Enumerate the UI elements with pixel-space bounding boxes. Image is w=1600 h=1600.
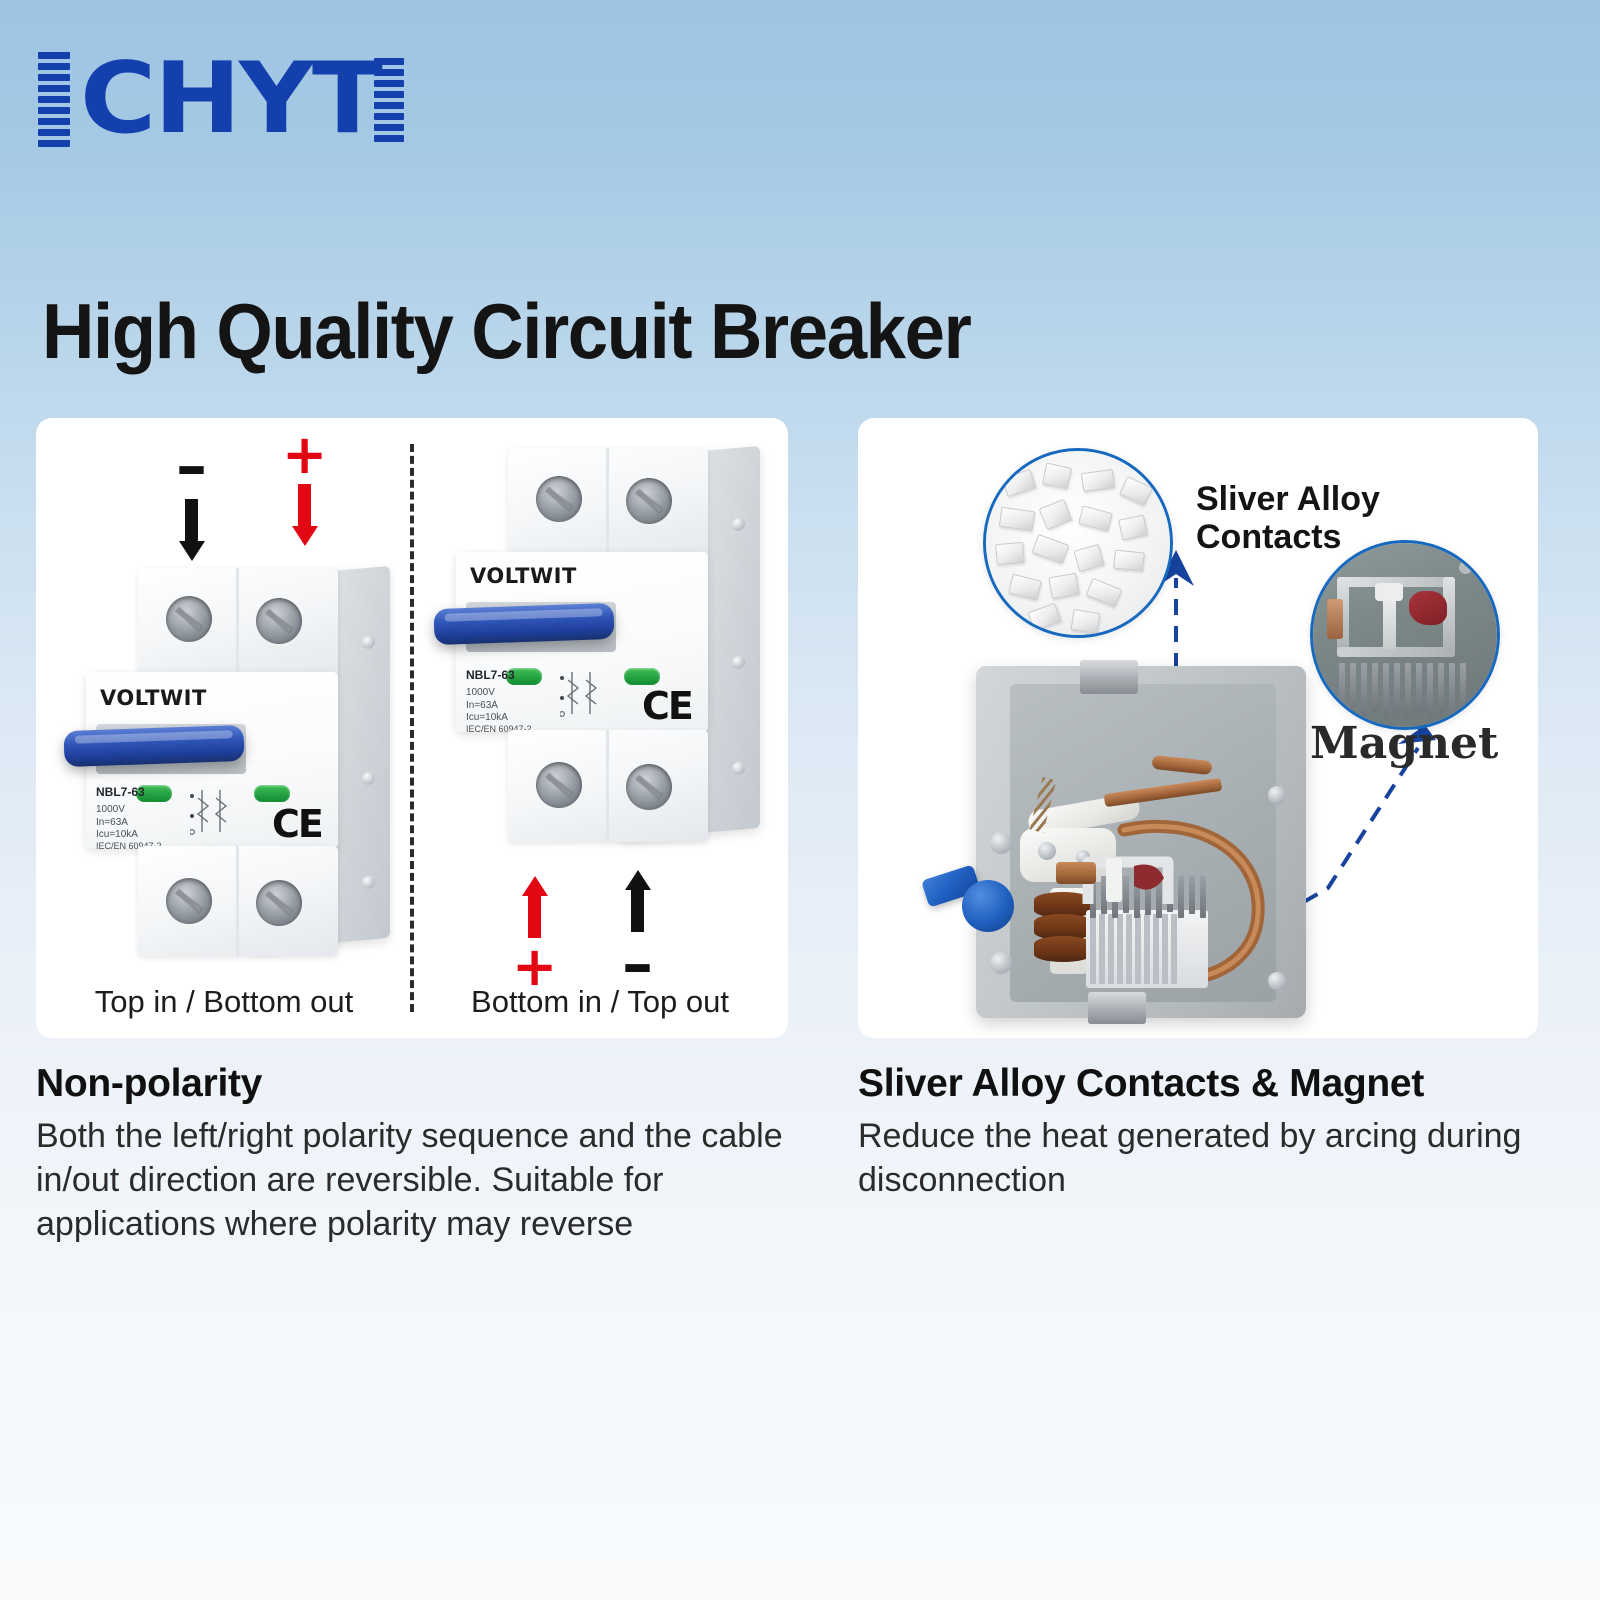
breaker-illustration-top-in: VOLTWIT NBL7-63 1000V In=63A Icu=10kA IE… bbox=[64, 568, 394, 958]
magnet-callout bbox=[1310, 540, 1500, 730]
logo-bars-left bbox=[38, 52, 70, 147]
polarity-mark-positive-bottom: + bbox=[512, 876, 557, 986]
terminal-block-top bbox=[138, 568, 338, 680]
toggle-lever[interactable] bbox=[433, 603, 614, 645]
top-terminal-bolt bbox=[1080, 660, 1138, 694]
logo-wordmark: CHYT bbox=[80, 57, 381, 141]
rating-voltage: 1000V bbox=[96, 803, 125, 817]
feature-heading: Non-polarity bbox=[36, 1062, 816, 1106]
minus-sign: – bbox=[622, 942, 653, 985]
shell-screw bbox=[990, 952, 1012, 974]
non-polarity-card: – + VOLTWIT bbox=[36, 418, 788, 1038]
status-led bbox=[254, 785, 290, 802]
status-led bbox=[624, 668, 660, 685]
contacts-photo bbox=[986, 451, 1170, 635]
minus-sign: – bbox=[176, 444, 207, 487]
ce-mark: CE bbox=[272, 802, 322, 846]
terminal-screw-hole bbox=[166, 878, 212, 924]
panel-a-caption: Top in / Bottom out bbox=[36, 984, 412, 1020]
plus-sign: + bbox=[282, 436, 327, 474]
panel-divider bbox=[410, 444, 414, 1012]
plus-sign: + bbox=[512, 948, 557, 986]
toggle-lever[interactable] bbox=[63, 725, 244, 767]
terminal-screw-hole bbox=[626, 764, 672, 810]
polarity-mark-negative-top: – bbox=[176, 444, 207, 561]
terminal-block-bottom bbox=[138, 846, 338, 956]
breaker-illustration-bottom-in: VOLTWIT NBL7-63 1000V In=63A Icu=10kA IE… bbox=[434, 448, 764, 848]
rating-voltage: 1000V bbox=[466, 686, 495, 700]
terminal-block-top bbox=[508, 448, 708, 560]
terminal-screw-hole bbox=[166, 596, 212, 642]
up-arrow-red bbox=[522, 876, 548, 938]
bottom-terminal-bolt bbox=[1088, 992, 1146, 1024]
product-model-label: NBL7-63 bbox=[466, 667, 515, 683]
terminal-screw-hole bbox=[536, 762, 582, 808]
feature-heading: Sliver Alloy Contacts & Magnet bbox=[858, 1062, 1558, 1106]
feature-non-polarity: Non-polarity Both the left/right polarit… bbox=[36, 1062, 816, 1247]
product-brand-label: VOLTWIT bbox=[470, 564, 577, 588]
terminal-screw-hole bbox=[256, 880, 302, 926]
polarity-mark-negative-bottom: – bbox=[622, 870, 653, 985]
feature-body: Both the left/right polarity sequence an… bbox=[36, 1114, 816, 1247]
breaker-cutaway-illustration bbox=[976, 666, 1306, 1018]
down-arrow-red bbox=[292, 484, 318, 546]
ce-mark: CE bbox=[642, 684, 692, 728]
magnet-label: Magnet bbox=[1310, 718, 1498, 769]
product-model-label: NBL7-63 bbox=[96, 784, 145, 800]
wiring-schematic-icon bbox=[560, 664, 614, 724]
panel-b-caption: Bottom in / Top out bbox=[412, 984, 788, 1020]
magnet-photo bbox=[1313, 543, 1497, 727]
terminal-screw-hole bbox=[256, 598, 302, 644]
lockout-knob[interactable] bbox=[962, 880, 1014, 932]
callout-label-line1: Sliver Alloy bbox=[1196, 480, 1380, 518]
feature-body: Reduce the heat generated by arcing duri… bbox=[858, 1114, 1558, 1202]
contacts-magnet-card: Sliver Alloy Contacts Magnet bbox=[858, 418, 1538, 1038]
product-brand-label: VOLTWIT bbox=[100, 686, 207, 710]
mechanism-pivot-screw bbox=[1038, 842, 1056, 860]
shell-screw bbox=[1268, 786, 1286, 804]
up-arrow-black bbox=[625, 870, 651, 932]
sliver-alloy-contacts-callout bbox=[983, 448, 1173, 638]
down-arrow-black bbox=[179, 499, 205, 561]
feature-contacts-magnet: Sliver Alloy Contacts & Magnet Reduce th… bbox=[858, 1062, 1558, 1202]
terminal-screw-hole bbox=[626, 478, 672, 524]
wiring-schematic-icon bbox=[190, 782, 244, 842]
shell-screw bbox=[1268, 972, 1286, 990]
copper-terminal-strap bbox=[1056, 862, 1096, 884]
brand-logo: CHYT bbox=[38, 52, 404, 147]
polarity-mark-positive-top: + bbox=[282, 436, 327, 546]
page-title: High Quality Circuit Breaker bbox=[42, 286, 970, 377]
terminal-block-bottom bbox=[508, 730, 708, 842]
terminal-screw-hole bbox=[536, 476, 582, 522]
shell-screw bbox=[990, 832, 1012, 854]
